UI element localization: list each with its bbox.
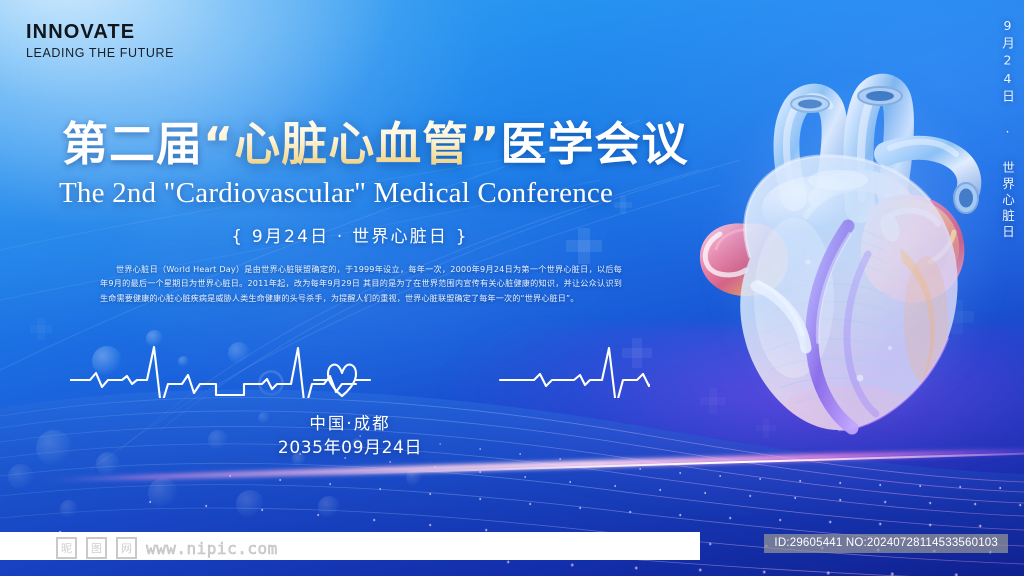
logo-tagline: LEADING THE FUTURE <box>26 47 174 60</box>
bokeh-dot <box>148 478 178 508</box>
medical-cross-icon <box>614 196 632 214</box>
brand-logo: INNOVATE LEADING THE FUTURE <box>26 22 174 60</box>
title-suffix: 医学会议 <box>500 117 688 171</box>
poster-canvas: INNOVATE LEADING THE FUTURE 9月24日 · 世界心脏… <box>0 0 1024 576</box>
medical-cross-icon <box>30 318 52 340</box>
watermark-char-1: 昵 <box>56 537 77 559</box>
page-title: 第二届“心脏心血管”医学会议 <box>62 121 688 167</box>
bokeh-dot <box>318 496 340 518</box>
bokeh-dot <box>60 500 78 518</box>
bokeh-dot <box>236 490 264 518</box>
asset-id-badge: ID:29605441 NO:20240728114533560103 <box>764 534 1008 553</box>
bokeh-dot <box>8 464 34 490</box>
venue-block: 中国·成都 2035年09月24日 <box>0 412 700 461</box>
description-paragraph: 世界心脏日（World Heart Day）是由世界心脏联盟确定的，于1999年… <box>100 262 622 305</box>
title-quoted: “心脏心血管” <box>203 117 500 171</box>
subtitle-english: The 2nd "Cardiovascular" Medical Confere… <box>59 178 613 208</box>
glass-heart-illustration <box>690 48 1020 468</box>
watermark-char-2: 图 <box>86 537 107 559</box>
title-prefix: 第二届 <box>62 117 203 171</box>
bokeh-dot <box>406 470 422 486</box>
title-date-tag: { 9月24日 · 世界心脏日 } <box>0 222 700 247</box>
venue-city: 中国·成都 <box>0 412 700 436</box>
watermark-logo: 昵 图 网 www.nipic.com <box>56 537 278 559</box>
logo-name: INNOVATE <box>26 22 174 42</box>
ecg-heartbeat-line <box>70 336 650 398</box>
watermark-char-3: 网 <box>116 537 137 559</box>
watermark-url: www.nipic.com <box>146 539 278 558</box>
heart-glow <box>710 88 1000 428</box>
venue-date: 2035年09月24日 <box>0 436 700 462</box>
